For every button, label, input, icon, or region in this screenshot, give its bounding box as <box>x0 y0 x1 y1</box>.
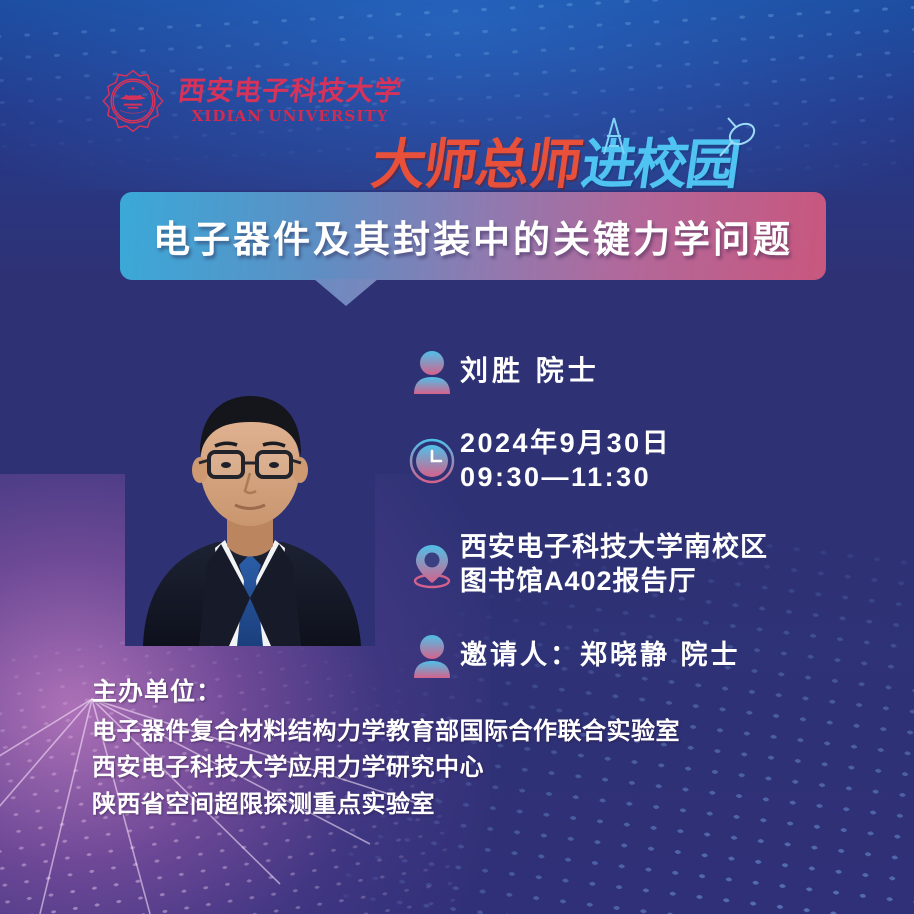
event-time: 09:30—11:30 <box>460 460 671 494</box>
organizer-line: 陕西省空间超限探测重点实验室 <box>92 787 852 823</box>
university-name-cn: 西安电子科技大学 <box>176 78 403 105</box>
event-date: 2024年9月30日 <box>460 426 671 460</box>
university-name-en: XIDIAN UNIVERSITY <box>191 109 388 124</box>
poster-header: 西安电子科技大学 XIDIAN UNIVERSITY 大师总师 进校园 <box>0 62 914 146</box>
university-logo: 西安电子科技大学 XIDIAN UNIVERSITY <box>100 68 402 134</box>
location-line-1: 西安电子科技大学南校区 <box>460 530 768 564</box>
speaker-name: 刘胜 院士 <box>460 353 600 388</box>
info-row-datetime: 2024年9月30日 09:30—11:30 <box>404 416 874 504</box>
speaker-portrait <box>125 378 375 646</box>
organizers-label: 主办单位： <box>92 672 852 708</box>
person-icon <box>404 348 460 394</box>
location-pin-icon <box>404 539 460 589</box>
info-row-location: 西安电子科技大学南校区 图书馆A402报告厅 <box>404 518 874 610</box>
event-poster: 西安电子科技大学 XIDIAN UNIVERSITY 大师总师 进校园 电子器件… <box>0 0 914 914</box>
inviter-name: 邀请人：郑晓静 院士 <box>460 638 741 672</box>
title-banner-tail <box>314 279 378 306</box>
xidian-seal-icon <box>100 68 166 134</box>
organizer-line: 西安电子科技大学应用力学研究中心 <box>92 750 852 786</box>
lecture-title-banner: 电子器件及其封装中的关键力学问题 <box>120 192 826 280</box>
clock-icon <box>404 436 460 484</box>
organizer-line: 电子器件复合材料结构力学教育部国际合作联合实验室 <box>92 714 852 750</box>
info-row-speaker: 刘胜 院士 <box>404 340 874 402</box>
location-line-2: 图书馆A402报告厅 <box>460 564 768 598</box>
page-title: 电子器件及其封装中的关键力学问题 <box>153 209 793 263</box>
campaign-text-red: 大师总师 <box>368 138 584 192</box>
event-info-list: 刘胜 院士 2024年9月30日 09:30—11:30 <box>404 340 874 700</box>
campaign-text-cyan: 进校园 <box>578 138 742 192</box>
organizers-block: 主办单位： 电子器件复合材料结构力学教育部国际合作联合实验室 西安电子科技大学应… <box>92 672 852 823</box>
